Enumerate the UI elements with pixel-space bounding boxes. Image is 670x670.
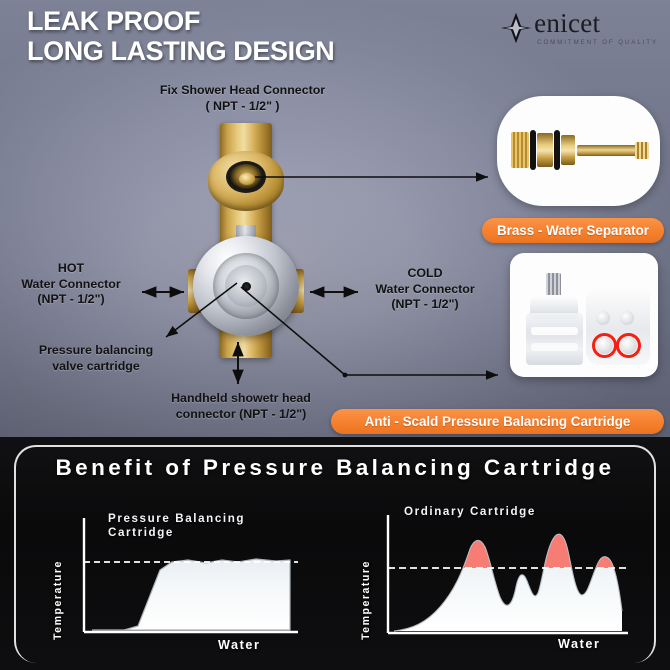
chart-right-series-group	[394, 534, 622, 631]
callout-handheld-line-2: connector (NPT - 1/2")	[152, 407, 330, 423]
headline: LEAK PROOF LONG LASTING DESIGN	[27, 6, 334, 66]
callout-handheld-shower-head-connector: Handheld showetr head connector (NPT - 1…	[152, 391, 330, 422]
chart-left-area-series	[92, 559, 290, 630]
cartridge-clear-body	[526, 313, 583, 365]
callout-cartridge-line-2: valve cartridge	[16, 359, 176, 375]
brass-water-separator-image	[497, 96, 660, 206]
callout-cold-line-3: (NPT - 1/2")	[361, 297, 489, 313]
pressure-balancing-cartridge-image	[510, 253, 658, 377]
callout-cold-water-connector: COLD Water Connector (NPT - 1/2")	[361, 266, 489, 313]
valve-chrome-inner-ring	[213, 253, 279, 319]
callout-cartridge-line-1: Pressure balancing	[16, 343, 176, 359]
callout-pressure-balancing-valve-cartridge: Pressure balancing valve cartridge	[16, 343, 176, 374]
callout-hot-water-connector: HOT Water Connector (NPT - 1/2")	[2, 261, 140, 308]
brand-tagline: COMMITMENT OF QUALITY	[537, 39, 658, 46]
badge-anti-scald-cartridge: Anti - Scald Pressure Balancing Cartridg…	[331, 409, 664, 434]
chart-right-plot	[382, 515, 634, 641]
brand-name: enicet	[534, 10, 658, 37]
callout-cold-line-1: COLD	[361, 266, 489, 282]
cartridge-base-view	[586, 287, 650, 365]
chart-pressure-balancing-cartridge: Pressure Balancing Cartridge Temperature…	[46, 512, 316, 660]
separator-oring-1	[530, 130, 536, 170]
separator-shaft	[577, 145, 639, 156]
separator-oring-2	[554, 130, 560, 170]
callout-hot-line-3: (NPT - 1/2")	[2, 292, 140, 308]
badge-brass-water-separator: Brass - Water Separator	[482, 218, 664, 243]
brand-logo: enicet COMMITMENT OF QUALITY	[499, 10, 658, 46]
callout-top-line-1: Fix Shower Head Connector	[140, 83, 345, 99]
cartridge-port-upper-left	[596, 311, 610, 325]
headline-line-1: LEAK PROOF	[27, 6, 334, 36]
highlight-ring-hot-port	[592, 333, 617, 358]
separator-body-1	[537, 133, 553, 167]
separator-splined-tip	[635, 142, 649, 159]
benefit-section-title: Benefit of Pressure Balancing Cartridge	[0, 455, 670, 481]
callout-hot-line-2: Water Connector	[2, 277, 140, 293]
headline-line-2: LONG LASTING DESIGN	[27, 36, 334, 66]
chart-left-x-axis-label: Water	[218, 638, 261, 652]
separator-knurled-head	[511, 132, 529, 168]
infographic-page: LEAK PROOF LONG LASTING DESIGN enicet CO…	[0, 0, 670, 670]
chart-right-y-axis-label: Temperature	[360, 560, 372, 640]
diamond-star-icon	[499, 11, 533, 45]
valve-center-pin	[242, 282, 251, 291]
callout-handheld-line-1: Handheld showetr head	[152, 391, 330, 407]
cartridge-port-upper-right	[620, 311, 634, 325]
callout-hot-line-1: HOT	[2, 261, 140, 277]
callout-top-line-2: ( NPT - 1/2" )	[140, 99, 345, 115]
callout-cold-line-2: Water Connector	[361, 282, 489, 298]
brass-separator-drawing	[511, 126, 651, 174]
highlight-ring-cold-port	[616, 333, 641, 358]
chart-ordinary-cartridge: Ordinary Cartridge Temperature Water	[352, 505, 642, 660]
chart-right-area-below-threshold	[394, 534, 622, 631]
product-diagram-panel: LEAK PROOF LONG LASTING DESIGN enicet CO…	[0, 0, 670, 437]
chart-left-y-axis-label: Temperature	[52, 560, 64, 640]
shower-valve-body-image	[186, 123, 306, 358]
chart-left-plot	[76, 518, 308, 640]
callout-fix-shower-head-connector: Fix Shower Head Connector ( NPT - 1/2" )	[140, 83, 345, 114]
valve-cartridge-disc	[225, 265, 267, 307]
valve-top-outlet-hole	[226, 161, 266, 193]
valve-chrome-face	[193, 236, 299, 336]
separator-hex-nut	[561, 135, 575, 165]
cartridge-side-view	[524, 273, 586, 365]
